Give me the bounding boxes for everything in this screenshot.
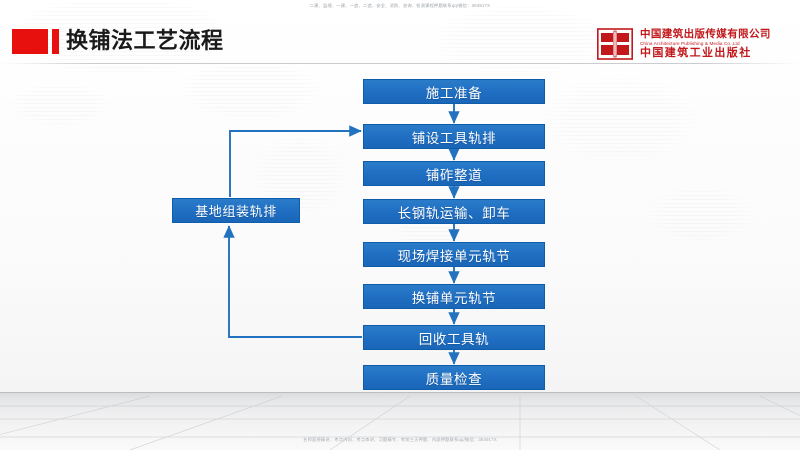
flow-nodes: 施工准备 铺设工具轨排 铺砟整道 长钢轨运输、卸车 现场焊接单元轨节 换铺单元轨… bbox=[0, 0, 800, 450]
flow-node-changgangguiyunshu[interactable]: 长钢轨运输、卸车 bbox=[363, 199, 545, 224]
flow-node-jidizuzhuangguipai[interactable]: 基地组装轨排 bbox=[172, 198, 300, 223]
flow-node-zhiliangjiancha[interactable]: 质量检查 bbox=[363, 365, 545, 390]
flow-node-xianchanghanjie[interactable]: 现场焊接单元轨节 bbox=[363, 242, 545, 267]
flow-node-pushegongjuguipai[interactable]: 铺设工具轨排 bbox=[363, 124, 545, 149]
flow-node-puzhazhengdao[interactable]: 铺砟整道 bbox=[363, 161, 545, 186]
flow-node-shigongzhunbei[interactable]: 施工准备 bbox=[363, 79, 545, 104]
slide-canvas: 二建、监理、一建、一造、二造、安全、消防、咨询、检测课程押题联系qq/微信：36… bbox=[0, 0, 800, 450]
flow-node-huanpudanyuanguijie[interactable]: 换铺单元轨节 bbox=[363, 284, 545, 309]
flow-node-huishougongjugui[interactable]: 回收工具轨 bbox=[363, 325, 545, 350]
